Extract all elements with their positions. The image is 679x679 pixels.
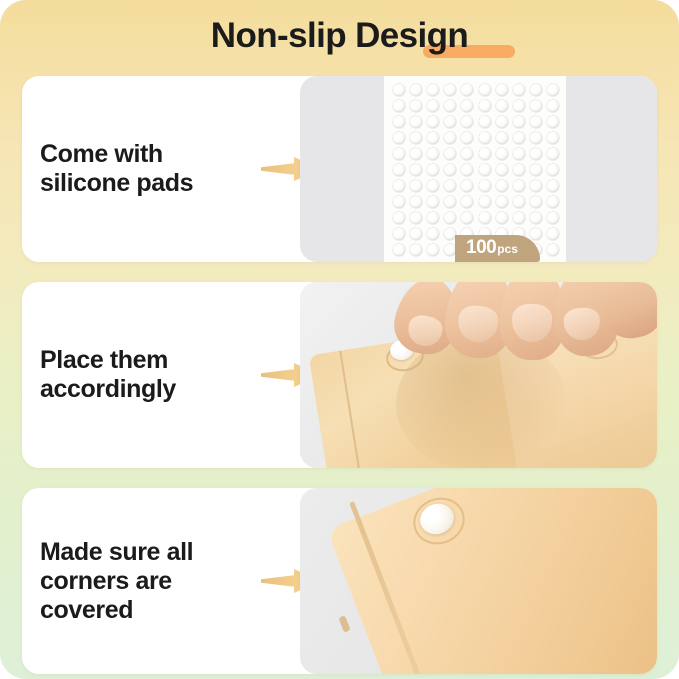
step-1-photo: 100 pcs xyxy=(300,76,657,262)
silicone-pad xyxy=(461,164,473,176)
silicone-pad xyxy=(393,132,405,144)
step-1-caption: Come with silicone pads xyxy=(40,140,193,198)
title-inner: Non-slip Design xyxy=(205,15,474,57)
silicone-pad xyxy=(461,196,473,208)
silicone-pad xyxy=(547,100,559,112)
silicone-pad xyxy=(547,228,559,240)
silicone-pad xyxy=(479,180,491,192)
silicone-pad xyxy=(427,116,439,128)
silicone-pad xyxy=(479,196,491,208)
silicone-pad xyxy=(496,116,508,128)
silicone-pad xyxy=(547,84,559,96)
silicone-pad xyxy=(444,132,456,144)
silicone-pad xyxy=(513,132,525,144)
silicone-pad xyxy=(410,196,422,208)
hand-placing-pad-scene xyxy=(300,282,657,468)
step-3-photo xyxy=(300,488,657,674)
silicone-pad xyxy=(427,228,439,240)
silicone-pad xyxy=(444,164,456,176)
silicone-pad xyxy=(427,180,439,192)
silicone-pad xyxy=(461,180,473,192)
silicone-pad xyxy=(530,196,542,208)
silicone-pad xyxy=(444,148,456,160)
silicone-pad xyxy=(410,244,422,256)
silicone-pad xyxy=(427,212,439,224)
silicone-pad xyxy=(393,196,405,208)
silicone-pad xyxy=(461,148,473,160)
silicone-pad xyxy=(530,180,542,192)
badge-unit: pcs xyxy=(497,236,518,262)
silicone-pad xyxy=(427,148,439,160)
silicone-pad xyxy=(530,228,542,240)
silicone-pad xyxy=(410,148,422,160)
silicone-pad xyxy=(410,132,422,144)
silicone-pad xyxy=(547,164,559,176)
silicone-pad xyxy=(513,84,525,96)
silicone-pad xyxy=(496,180,508,192)
silicone-pad xyxy=(410,116,422,128)
silicone-pad xyxy=(530,100,542,112)
silicone-pad xyxy=(513,180,525,192)
silicone-pad xyxy=(479,212,491,224)
silicone-pad xyxy=(393,244,405,256)
silicone-pad xyxy=(479,84,491,96)
silicone-pad xyxy=(547,212,559,224)
silicone-pad xyxy=(496,84,508,96)
silicone-pad xyxy=(461,132,473,144)
silicone-pad xyxy=(479,132,491,144)
badge-count: 100 xyxy=(466,235,496,261)
silicone-pad xyxy=(427,196,439,208)
silicone-pad xyxy=(513,148,525,160)
silicone-pad xyxy=(530,132,542,144)
silicone-pad xyxy=(393,100,405,112)
silicone-pad xyxy=(410,228,422,240)
silicone-pad xyxy=(479,116,491,128)
silicone-pad xyxy=(427,100,439,112)
silicone-pad xyxy=(444,100,456,112)
silicone-pad xyxy=(427,84,439,96)
silicone-pad xyxy=(461,100,473,112)
silicone-pad xyxy=(461,84,473,96)
silicone-pad xyxy=(427,244,439,256)
silicone-pad xyxy=(530,116,542,128)
title-banner: Non-slip Design xyxy=(0,0,679,72)
silicone-pad xyxy=(547,116,559,128)
silicone-pad xyxy=(547,196,559,208)
box-corner xyxy=(327,488,657,674)
silicone-pad xyxy=(496,164,508,176)
silicone-pad xyxy=(547,132,559,144)
silicone-pad xyxy=(410,100,422,112)
silicone-pad xyxy=(496,132,508,144)
silicone-pad xyxy=(513,164,525,176)
silicone-pad xyxy=(547,244,559,256)
silicone-pad xyxy=(530,212,542,224)
silicone-pad xyxy=(427,164,439,176)
silicone-pad xyxy=(479,164,491,176)
silicone-pad xyxy=(530,84,542,96)
silicone-pad xyxy=(444,180,456,192)
step-card-1: Come with silicone pads xyxy=(22,76,657,262)
silicone-pad xyxy=(547,180,559,192)
silicone-pad xyxy=(393,228,405,240)
silicone-pad xyxy=(393,212,405,224)
silicone-pad xyxy=(410,180,422,192)
silicone-pad xyxy=(393,164,405,176)
silicone-pad xyxy=(513,100,525,112)
silicone-pad xyxy=(513,212,525,224)
steps-list: Come with silicone pads xyxy=(22,76,657,674)
pad-grid xyxy=(390,82,562,258)
silicone-pad xyxy=(547,148,559,160)
silicone-pad xyxy=(393,84,405,96)
covered-corner-scene xyxy=(300,488,657,674)
pad-sheet: 100 pcs xyxy=(384,76,566,262)
quantity-badge: 100 pcs xyxy=(455,235,540,262)
infographic-root: Non-slip Design Come with silicone pads xyxy=(0,0,679,679)
silicone-pad xyxy=(479,100,491,112)
step-2-photo xyxy=(300,282,657,468)
silicone-pad xyxy=(461,212,473,224)
silicone-pad xyxy=(513,116,525,128)
silicone-pad xyxy=(496,212,508,224)
silicone-pad xyxy=(444,116,456,128)
step-3-caption: Made sure all corners are covered xyxy=(40,538,193,625)
silicone-pad xyxy=(496,100,508,112)
silicone-pad xyxy=(496,148,508,160)
silicone-pad xyxy=(444,196,456,208)
silicone-pad xyxy=(513,196,525,208)
silicone-pad xyxy=(427,132,439,144)
silicone-pad xyxy=(444,84,456,96)
step-card-3: Made sure all corners are covered xyxy=(22,488,657,674)
page-title: Non-slip Design xyxy=(211,16,468,55)
silicone-pad xyxy=(461,116,473,128)
silicone-pad xyxy=(393,180,405,192)
silicone-pad xyxy=(410,84,422,96)
silicone-pad xyxy=(530,164,542,176)
silicone-pad xyxy=(530,148,542,160)
silicone-pad xyxy=(410,212,422,224)
step-card-2: Place them accordingly xyxy=(22,282,657,468)
silicone-pad xyxy=(410,164,422,176)
step-2-caption: Place them accordingly xyxy=(40,346,176,404)
silicone-pad xyxy=(496,196,508,208)
silicone-pad xyxy=(393,116,405,128)
silicone-pad xyxy=(393,148,405,160)
silicone-pad xyxy=(444,212,456,224)
silicone-pad xyxy=(479,148,491,160)
